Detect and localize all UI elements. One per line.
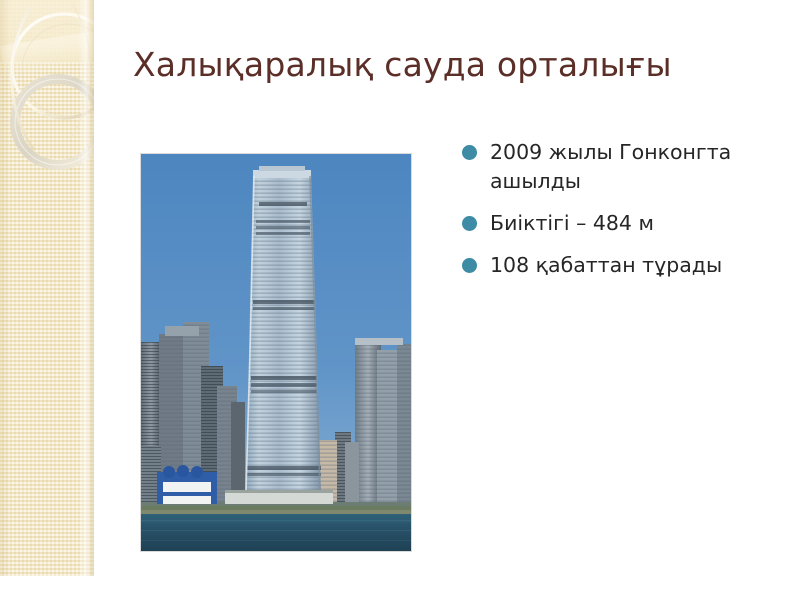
decorative-sidebar [0,0,94,576]
bullet-dot-icon [462,145,477,160]
slide-title: Халықаралық сауда орталығы [133,45,773,85]
list-item: 108 қабаттан тұрады [462,251,792,280]
sidebar-edge-shading [0,0,94,576]
bullet-text: 108 қабаттан тұрады [490,251,792,280]
list-item: 2009 жылы Гонконгта ашылды [462,138,792,196]
photo-artwork [141,154,411,551]
international-commerce-centre-photo [141,154,411,551]
bullet-dot-icon [462,258,477,273]
bullet-dot-icon [462,216,477,231]
bullet-text: Биіктігі – 484 м [490,209,792,238]
bullet-text: 2009 жылы Гонконгта ашылды [490,138,792,196]
bullet-list: 2009 жылы Гонконгта ашылды Биіктігі – 48… [462,138,792,293]
list-item: Биіктігі – 484 м [462,209,792,238]
presentation-slide: Халықаралық сауда орталығы [0,0,800,600]
